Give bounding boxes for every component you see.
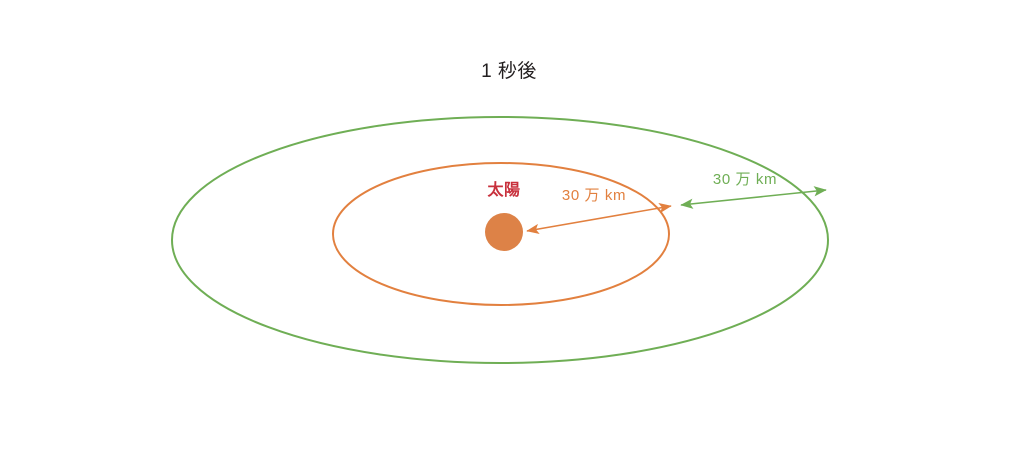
inner-distance-arrow: [527, 206, 671, 231]
page-title: 1 秒後: [481, 60, 537, 82]
outer-distance-label: 30 万 km: [713, 171, 777, 188]
sun-circle: [485, 213, 523, 251]
outer-distance-arrow: [681, 190, 826, 205]
diagram-canvas: 1 秒後 太陽 30 万 km 30 万 km: [0, 0, 1024, 458]
sun-label: 太陽: [486, 180, 520, 199]
light-distance-diagram: 1 秒後 太陽 30 万 km 30 万 km: [0, 0, 1024, 458]
inner-distance-label: 30 万 km: [562, 187, 626, 204]
